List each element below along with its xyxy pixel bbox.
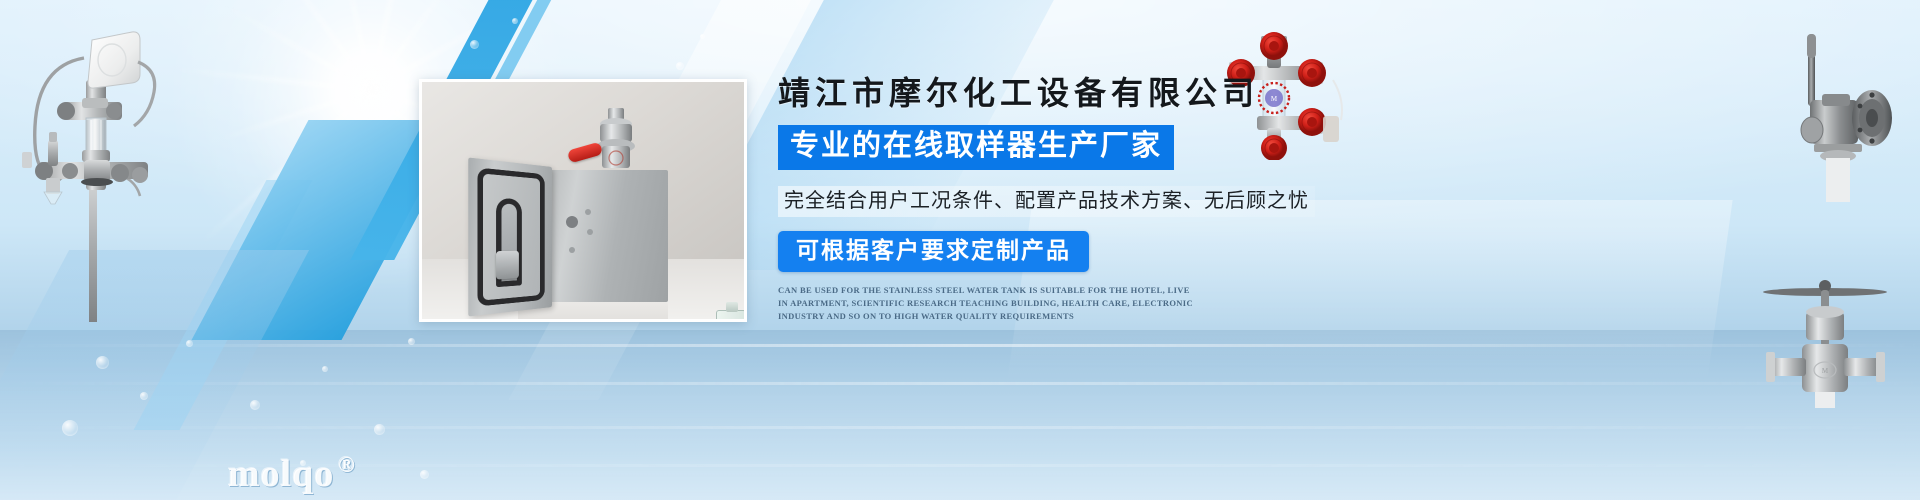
water-droplet-icon xyxy=(512,18,518,24)
left-product-image xyxy=(8,22,178,322)
water-droplet-icon xyxy=(62,420,78,436)
right-bottom-valve-image: M xyxy=(1760,258,1890,408)
water-droplet-icon xyxy=(250,400,260,410)
water-droplet-icon xyxy=(140,392,148,400)
english-caption: CAN BE USED FOR THE STAINLESS STEEL WATE… xyxy=(778,284,1198,324)
promo-banner: M xyxy=(0,0,1920,500)
slogan-highlight: 专业的在线取样器生产厂家 xyxy=(778,125,1174,169)
watermark-text: molqo xyxy=(228,453,334,495)
watermark-logo: molqo® xyxy=(228,452,356,496)
water-droplet-icon xyxy=(186,340,193,347)
registered-trademark-icon: ® xyxy=(338,452,355,477)
water-droplet-icon xyxy=(420,470,429,479)
banner-text-block: 靖江市摩尔化工设备有限公司 专业的在线取样器生产厂家 完全结合用户工况条件、配置… xyxy=(778,76,1398,323)
water-droplet-icon xyxy=(470,40,479,49)
right-top-valve-image xyxy=(1800,22,1910,202)
svg-text:M: M xyxy=(1822,367,1829,375)
water-droplet-icon xyxy=(322,366,328,372)
company-name: 靖江市摩尔化工设备有限公司 xyxy=(778,76,1398,111)
center-product-photo xyxy=(419,79,747,322)
water-droplet-icon xyxy=(374,424,385,435)
water-droplet-icon xyxy=(96,356,109,369)
water-droplet-icon xyxy=(408,338,415,345)
water-droplet-icon xyxy=(700,34,705,39)
description-text: 完全结合用户工况条件、配置产品技术方案、无后顾之忧 xyxy=(778,186,1315,217)
water-droplet-icon xyxy=(676,62,684,70)
custom-product-badge[interactable]: 可根据客户要求定制产品 xyxy=(778,231,1089,272)
